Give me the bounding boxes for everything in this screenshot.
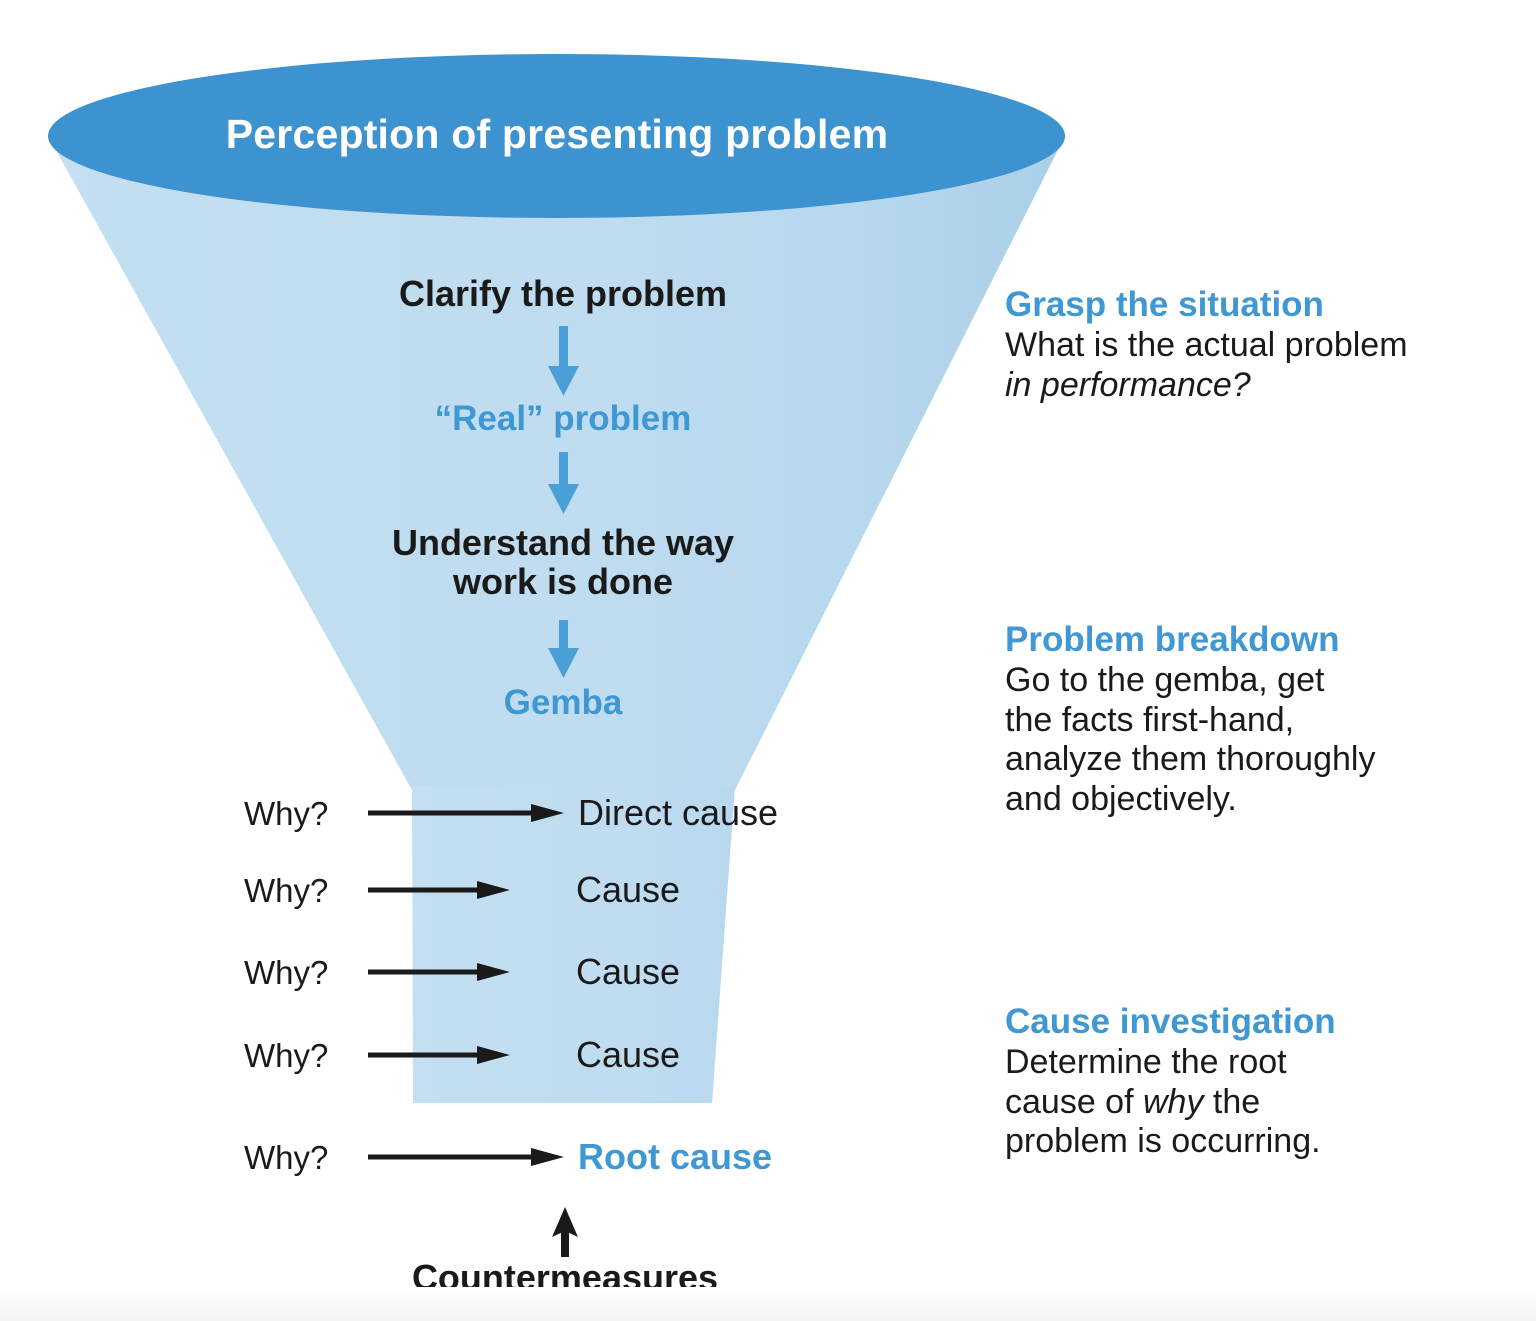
annotation-body: What is the actual problem in performanc… [1005, 326, 1515, 405]
annotation-title: Grasp the situation [1005, 285, 1515, 324]
annotation-body-emphasis: in performance? [1005, 366, 1251, 404]
annotation-body-emphasis: why [1143, 1083, 1203, 1121]
annotation-title: Cause investigation [1005, 1002, 1515, 1041]
funnel-step-real-problem: “Real” problem [363, 400, 763, 438]
annotation-title: Problem breakdown [1005, 620, 1515, 659]
why-label: Why? [244, 797, 368, 830]
annotation-body: Go to the gemba, get the facts first-han… [1005, 661, 1515, 819]
why-row: Why? Cause [244, 1031, 680, 1079]
why-row: Why? Direct cause [244, 789, 778, 837]
funnel-step-understand-the-way-work-is-done: Understand the way work is done [343, 524, 783, 602]
why-label: Why? [244, 1141, 368, 1174]
annotation-body-pre: Go to the gemba, get the facts first-han… [1005, 661, 1375, 817]
countermeasures-up-arrow-icon [545, 1207, 585, 1257]
countermeasures-label: Countermeasures [330, 1259, 800, 1297]
annotation-cause-investigation: Cause investigation Determine the root c… [1005, 1002, 1515, 1162]
why-label: Why? [244, 874, 368, 907]
why-arrow-icon [368, 1146, 564, 1168]
why-row: Why? Cause [244, 948, 680, 996]
cause-label: Cause [576, 1037, 680, 1073]
funnel-header-label: Perception of presenting problem [48, 111, 1066, 158]
why-label: Why? [244, 1039, 368, 1072]
cause-label: Direct cause [578, 795, 778, 831]
annotation-grasp-the-situation: Grasp the situation What is the actual p… [1005, 285, 1515, 405]
diagram-canvas: Perception of presenting problem Clarify… [0, 0, 1536, 1321]
cause-label-root: Root cause [578, 1139, 772, 1175]
cause-label: Cause [576, 954, 680, 990]
why-row: Why? Root cause [244, 1133, 772, 1181]
why-label: Why? [244, 956, 368, 989]
annotation-problem-breakdown: Problem breakdown Go to the gemba, get t… [1005, 620, 1515, 819]
funnel-step-clarify-the-problem: Clarify the problem [363, 275, 763, 314]
annotation-body-pre: What is the actual problem [1005, 326, 1408, 364]
why-arrow-icon [368, 1044, 510, 1066]
why-row: Why? Cause [244, 866, 680, 914]
why-arrow-icon [368, 879, 510, 901]
countermeasures-group: Countermeasures [330, 1207, 800, 1297]
funnel-step-gemba: Gemba [363, 684, 763, 722]
cause-label: Cause [576, 872, 680, 908]
why-arrow-icon [368, 802, 564, 824]
annotation-body: Determine the root cause of why the prob… [1005, 1043, 1515, 1161]
why-arrow-icon [368, 961, 510, 983]
